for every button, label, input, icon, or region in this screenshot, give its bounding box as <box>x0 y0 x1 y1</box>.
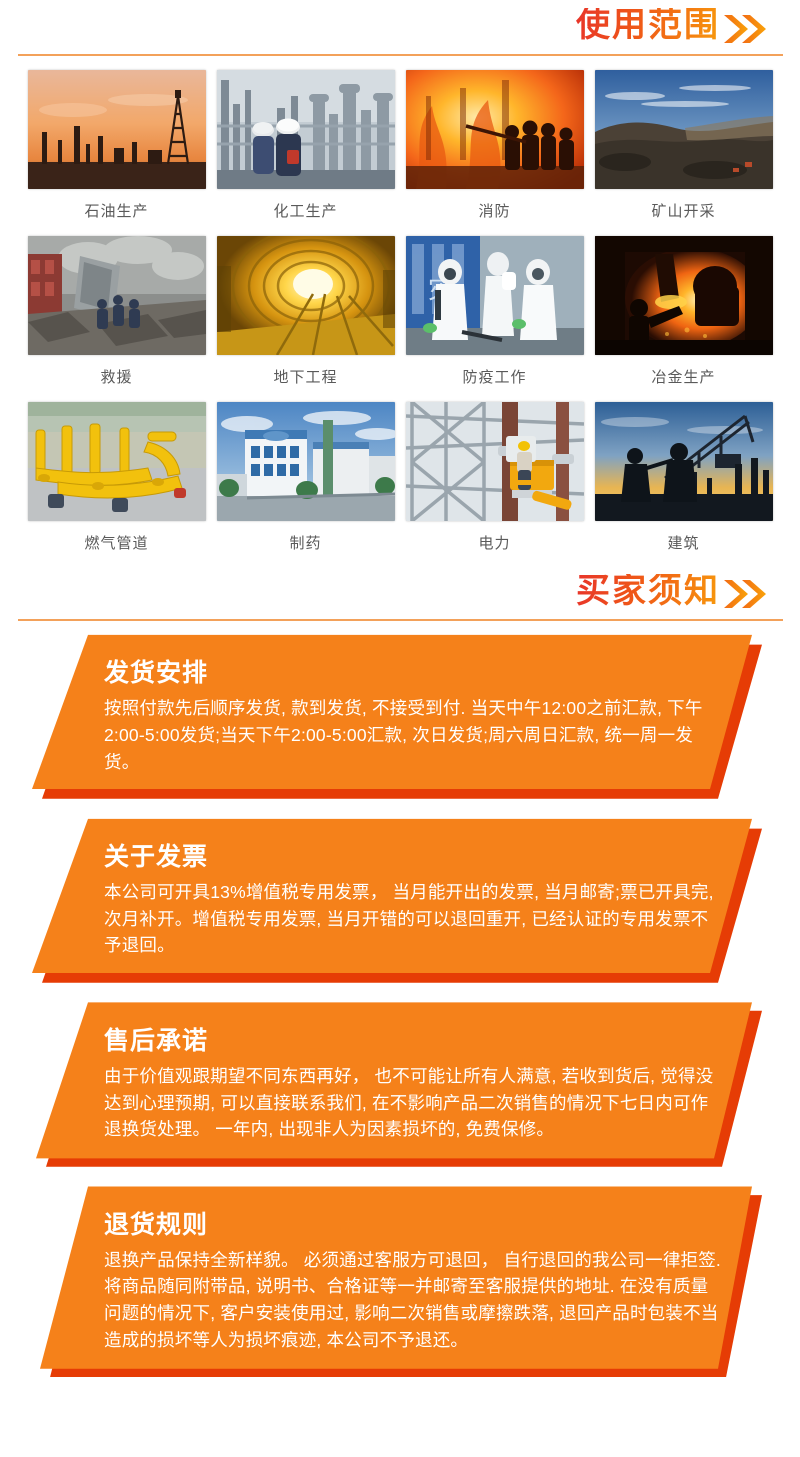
notice-card-body: 退货规则 退换产品保持全新样貌。 必须通过客服方可退回， 自行退回的我公司一律拒… <box>0 1183 800 1377</box>
scope-title-row: 使用范围 <box>0 8 800 44</box>
notice-card-title: 发货安排 <box>104 653 726 689</box>
scope-grid-item[interactable]: 冶金生产 <box>595 236 773 402</box>
scope-item-label: 电力 <box>406 521 584 568</box>
scope-item-label: 防疫工作 <box>406 355 584 402</box>
scope-item-label: 救援 <box>28 355 206 402</box>
scope-section-header: 使用范围 <box>0 0 800 56</box>
pharmaceutical-factory-thumbnail[interactable] <box>217 402 395 521</box>
chemical-plant-workers-thumbnail[interactable] <box>217 70 395 189</box>
notice-title-row: 买家须知 <box>0 574 800 610</box>
disaster-rescue-rubble-thumbnail[interactable] <box>28 236 206 355</box>
notice-header-divider <box>18 619 783 621</box>
scope-item-label: 石油生产 <box>28 189 206 236</box>
scope-item-label: 化工生产 <box>217 189 395 236</box>
buyer-notice-cards: 发货安排 按照付款先后顺序发货, 款到发货, 不接受到付. 当天中午12:00之… <box>0 631 800 1377</box>
open-pit-mine-thumbnail[interactable] <box>595 70 773 189</box>
scope-grid-item[interactable]: 电力 <box>406 402 584 568</box>
double-chevron-right-icon <box>722 577 768 611</box>
scope-item-label: 矿山开采 <box>595 189 773 236</box>
notice-card-body: 发货安排 按照付款先后顺序发货, 款到发货, 不接受到付. 当天中午12:00之… <box>0 631 800 799</box>
notice-card: 售后承诺 由于价值观跟期望不同东西再好， 也不可能让所有人满意, 若收到货后, … <box>0 999 800 1167</box>
scope-item-label: 地下工程 <box>217 355 395 402</box>
scope-item-label: 冶金生产 <box>595 355 773 402</box>
hazmat-disinfection-thumbnail[interactable]: 灾 <box>406 236 584 355</box>
notice-card: 关于发票 本公司可开具13%增值税专用发票， 当月能开出的发票, 当月邮寄;票已… <box>0 815 800 983</box>
power-line-lift-worker-thumbnail[interactable] <box>406 402 584 521</box>
scope-item-label: 制药 <box>217 521 395 568</box>
notice-card-body: 售后承诺 由于价值观跟期望不同东西再好， 也不可能让所有人满意, 若收到货后, … <box>0 999 800 1167</box>
scope-grid-item[interactable]: 救援 <box>28 236 206 402</box>
scope-grid-item[interactable]: 矿山开采 <box>595 70 773 236</box>
scope-item-label: 消防 <box>406 189 584 236</box>
notice-card-title: 关于发票 <box>104 837 726 873</box>
double-chevron-right-icon <box>722 12 768 46</box>
notice-card: 退货规则 退换产品保持全新样貌。 必须通过客服方可退回， 自行退回的我公司一律拒… <box>0 1183 800 1377</box>
gas-pipeline-yellow-thumbnail[interactable] <box>28 402 206 521</box>
scope-item-label: 建筑 <box>595 521 773 568</box>
notice-card-title: 退货规则 <box>104 1205 726 1241</box>
notice-section-title: 买家须知 <box>576 574 720 610</box>
scope-grid-item[interactable]: 化工生产 <box>217 70 395 236</box>
oil-refinery-sunset-thumbnail[interactable] <box>28 70 206 189</box>
notice-card-text: 由于价值观跟期望不同东西再好， 也不可能让所有人满意, 若收到货后, 觉得没达到… <box>104 1063 726 1143</box>
notice-card-title: 售后承诺 <box>104 1021 726 1057</box>
molten-metal-foundry-thumbnail[interactable] <box>595 236 773 355</box>
scope-grid-item[interactable]: 消防 <box>406 70 584 236</box>
notice-card: 发货安排 按照付款先后顺序发货, 款到发货, 不接受到付. 当天中午12:00之… <box>0 631 800 799</box>
scope-grid-item[interactable]: 建筑 <box>595 402 773 568</box>
scope-section-title: 使用范围 <box>576 8 720 44</box>
notice-card-text: 退换产品保持全新样貌。 必须通过客服方可退回， 自行退回的我公司一律拒签. 将商… <box>104 1247 726 1353</box>
scope-grid-item[interactable]: 制药 <box>217 402 395 568</box>
notice-section-header: 买家须知 <box>0 574 800 622</box>
construction-crane-silhouette-thumbnail[interactable] <box>595 402 773 521</box>
notice-card-body: 关于发票 本公司可开具13%增值税专用发票， 当月能开出的发票, 当月邮寄;票已… <box>0 815 800 983</box>
product-detail-page: 使用范围 <box>0 0 800 1457</box>
scope-item-label: 燃气管道 <box>28 521 206 568</box>
scope-grid-item[interactable]: 石油生产 <box>28 70 206 236</box>
tunnel-underground-thumbnail[interactable] <box>217 236 395 355</box>
firefighters-blaze-thumbnail[interactable] <box>406 70 584 189</box>
scope-header-divider <box>18 54 783 56</box>
scope-grid-item[interactable]: 灾 <box>406 236 584 402</box>
scope-image-grid: 石油生产 <box>0 70 800 568</box>
scope-grid-item[interactable]: 地下工程 <box>217 236 395 402</box>
notice-card-text: 按照付款先后顺序发货, 款到发货, 不接受到付. 当天中午12:00之前汇款, … <box>104 695 726 775</box>
notice-card-text: 本公司可开具13%增值税专用发票， 当月能开出的发票, 当月邮寄;票已开具完, … <box>104 879 726 959</box>
scope-grid-item[interactable]: 燃气管道 <box>28 402 206 568</box>
